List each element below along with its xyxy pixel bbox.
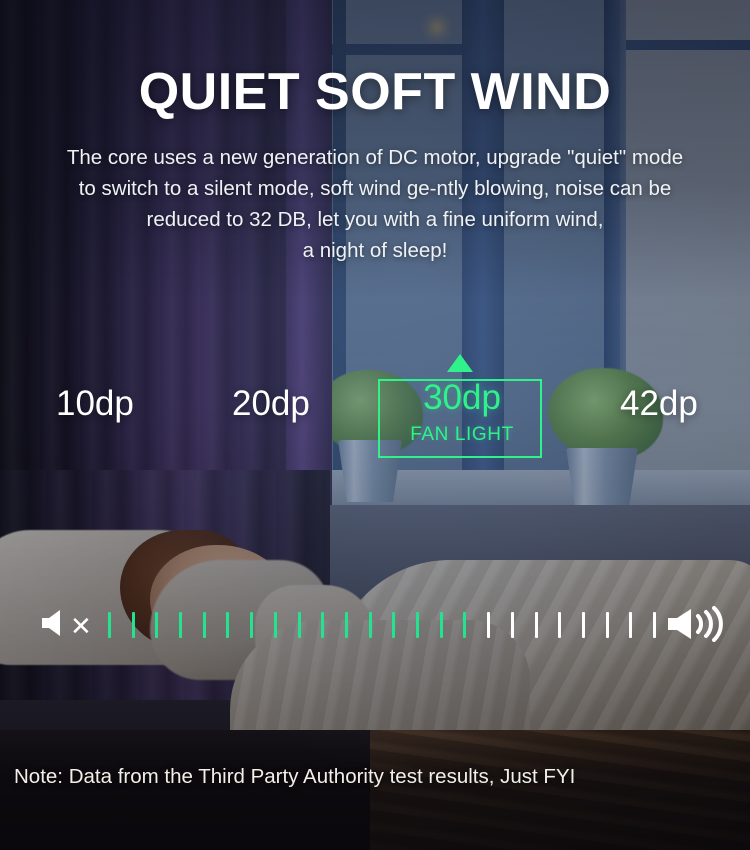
mute-cross-icon: ✕ [70,613,92,639]
meter-tick-active[interactable] [369,612,372,638]
meter-tick-inactive[interactable] [582,612,585,638]
description-paragraph: The core uses a new generation of DC mot… [0,142,750,266]
fan-light-caption: FAN LIGHT [380,424,544,446]
promo-banner: QUIET SOFT WIND The core uses a new gene… [0,0,750,850]
meter-tick-active[interactable] [463,612,466,638]
meter-tick-inactive[interactable] [629,612,632,638]
meter-tick-active[interactable] [155,612,158,638]
triangle-marker-icon[interactable] [447,354,473,372]
page-title: QUIET SOFT WIND [0,62,750,122]
meter-tick-inactive[interactable] [487,612,490,638]
label-30dp: 30dp [380,378,544,418]
meter-tick-active[interactable] [108,612,111,638]
description-line-3: reduced to 32 DB, let you with a fine un… [0,204,750,235]
meter-tick-active[interactable] [203,612,206,638]
description-line-4: a night of sleep! [0,235,750,266]
noise-level-meter[interactable]: ✕ [0,300,750,348]
meter-tick-active[interactable] [345,612,348,638]
meter-tick-active[interactable] [179,612,182,638]
speaker-volume-icon [666,606,728,647]
meter-tick-active[interactable] [274,612,277,638]
meter-tick-inactive[interactable] [606,612,609,638]
meter-tick-active[interactable] [298,612,301,638]
meter-tick-active[interactable] [440,612,443,638]
description-line-1: The core uses a new generation of DC mot… [0,142,750,173]
footnote: Note: Data from the Third Party Authorit… [14,765,744,789]
meter-tick-inactive[interactable] [535,612,538,638]
meter-tick-track[interactable] [108,612,656,638]
meter-tick-active[interactable] [392,612,395,638]
fan-light-callout[interactable]: 30dp FAN LIGHT [378,379,542,458]
meter-tick-inactive[interactable] [511,612,514,638]
meter-tick-active[interactable] [416,612,419,638]
meter-tick-active[interactable] [321,612,324,638]
label-20dp: 20dp [232,384,310,424]
meter-tick-active[interactable] [226,612,229,638]
meter-tick-inactive[interactable] [653,612,656,638]
meter-tick-active[interactable] [250,612,253,638]
description-line-2: to switch to a silent mode, soft wind ge… [0,173,750,204]
meter-tick-inactive[interactable] [558,612,561,638]
speaker-mute-icon [40,608,66,643]
meter-tick-active[interactable] [132,612,135,638]
label-10dp: 10dp [56,384,134,424]
label-42dp: 42dp [620,384,698,424]
